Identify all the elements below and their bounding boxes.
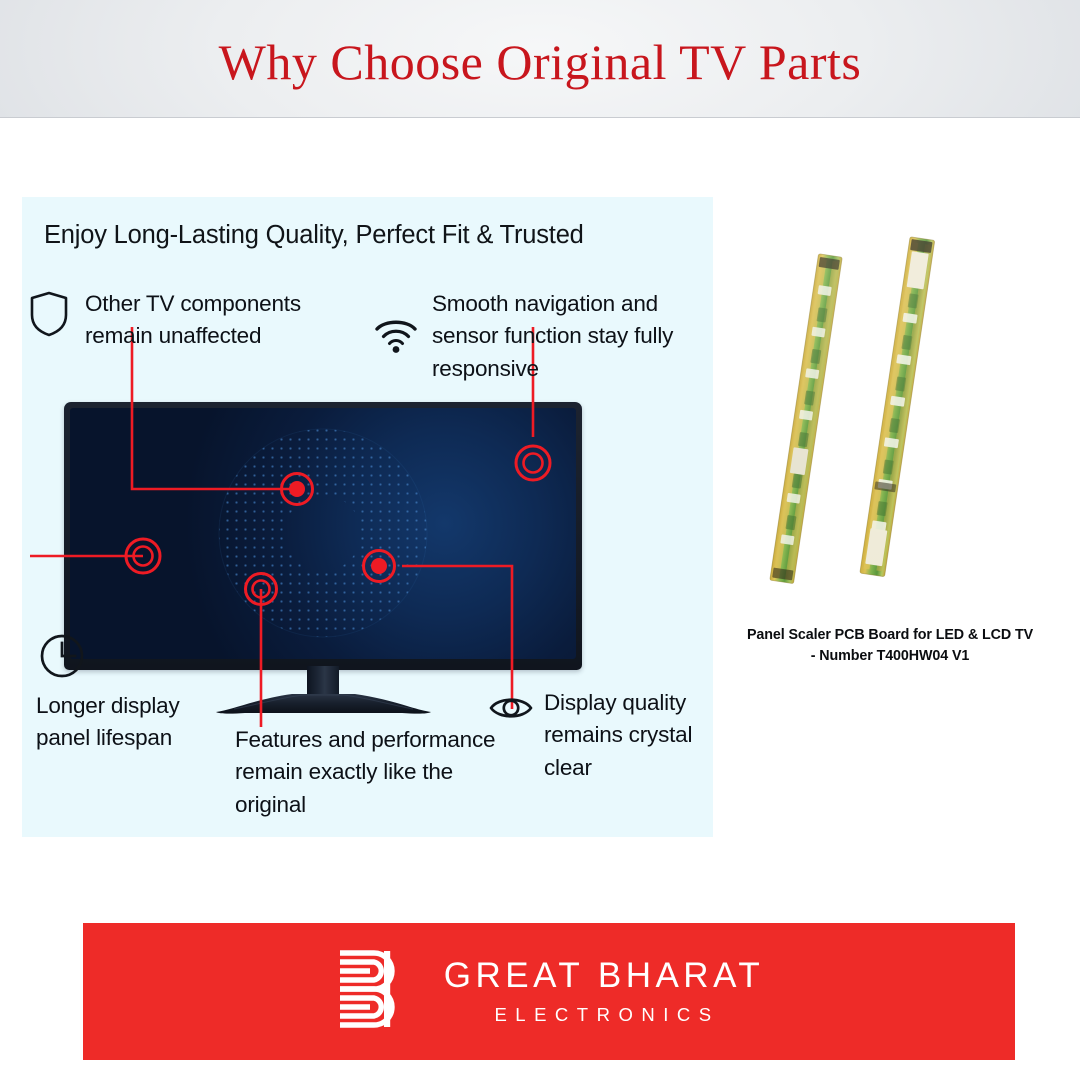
footer-brand-bar: GREAT BHARAT ELECTRONICS bbox=[83, 923, 1015, 1060]
callout-label-other-components: Other TV components remain unaffected bbox=[85, 288, 335, 353]
clock-icon bbox=[38, 632, 86, 685]
infographic-panel: Enjoy Long-Lasting Quality, Perfect Fit … bbox=[22, 197, 713, 837]
page-title: Why Choose Original TV Parts bbox=[0, 33, 1080, 91]
pcb-strip-front bbox=[860, 237, 935, 577]
wifi-icon bbox=[374, 316, 418, 359]
product-area: Panel Scaler PCB Board for LED & LCD TV … bbox=[713, 197, 1080, 697]
tv-markers bbox=[126, 446, 550, 605]
brand-subtitle: ELECTRONICS bbox=[494, 1006, 719, 1025]
pcb-product-image bbox=[723, 219, 1070, 619]
product-caption-line2: - Number T400HW04 V1 bbox=[811, 648, 970, 664]
product-caption: Panel Scaler PCB Board for LED & LCD TV … bbox=[705, 625, 1075, 668]
brand-row: GREAT BHARAT ELECTRONICS bbox=[83, 923, 1015, 1060]
brand-name: GREAT BHARAT bbox=[444, 958, 764, 993]
callout-label-longer-lifespan: Longer display panel lifespan bbox=[36, 690, 236, 755]
product-caption-line1: Panel Scaler PCB Board for LED & LCD TV bbox=[747, 627, 1033, 643]
callout-label-features-performance: Features and performance remain exactly … bbox=[235, 724, 520, 821]
eye-icon bbox=[488, 692, 534, 729]
pcb-strip-back bbox=[770, 254, 843, 584]
callout-label-display-quality: Display quality remains crystal clear bbox=[544, 687, 719, 784]
pcb-strips-graphic bbox=[723, 219, 1070, 619]
callout-label-smooth-navigation: Smooth navigation and sensor function st… bbox=[432, 288, 682, 385]
great-bharat-b-logo-icon bbox=[334, 945, 418, 1038]
shield-icon bbox=[28, 290, 70, 343]
header-banner: Why Choose Original TV Parts bbox=[0, 0, 1080, 118]
brand-text: GREAT BHARAT ELECTRONICS bbox=[444, 958, 764, 1025]
